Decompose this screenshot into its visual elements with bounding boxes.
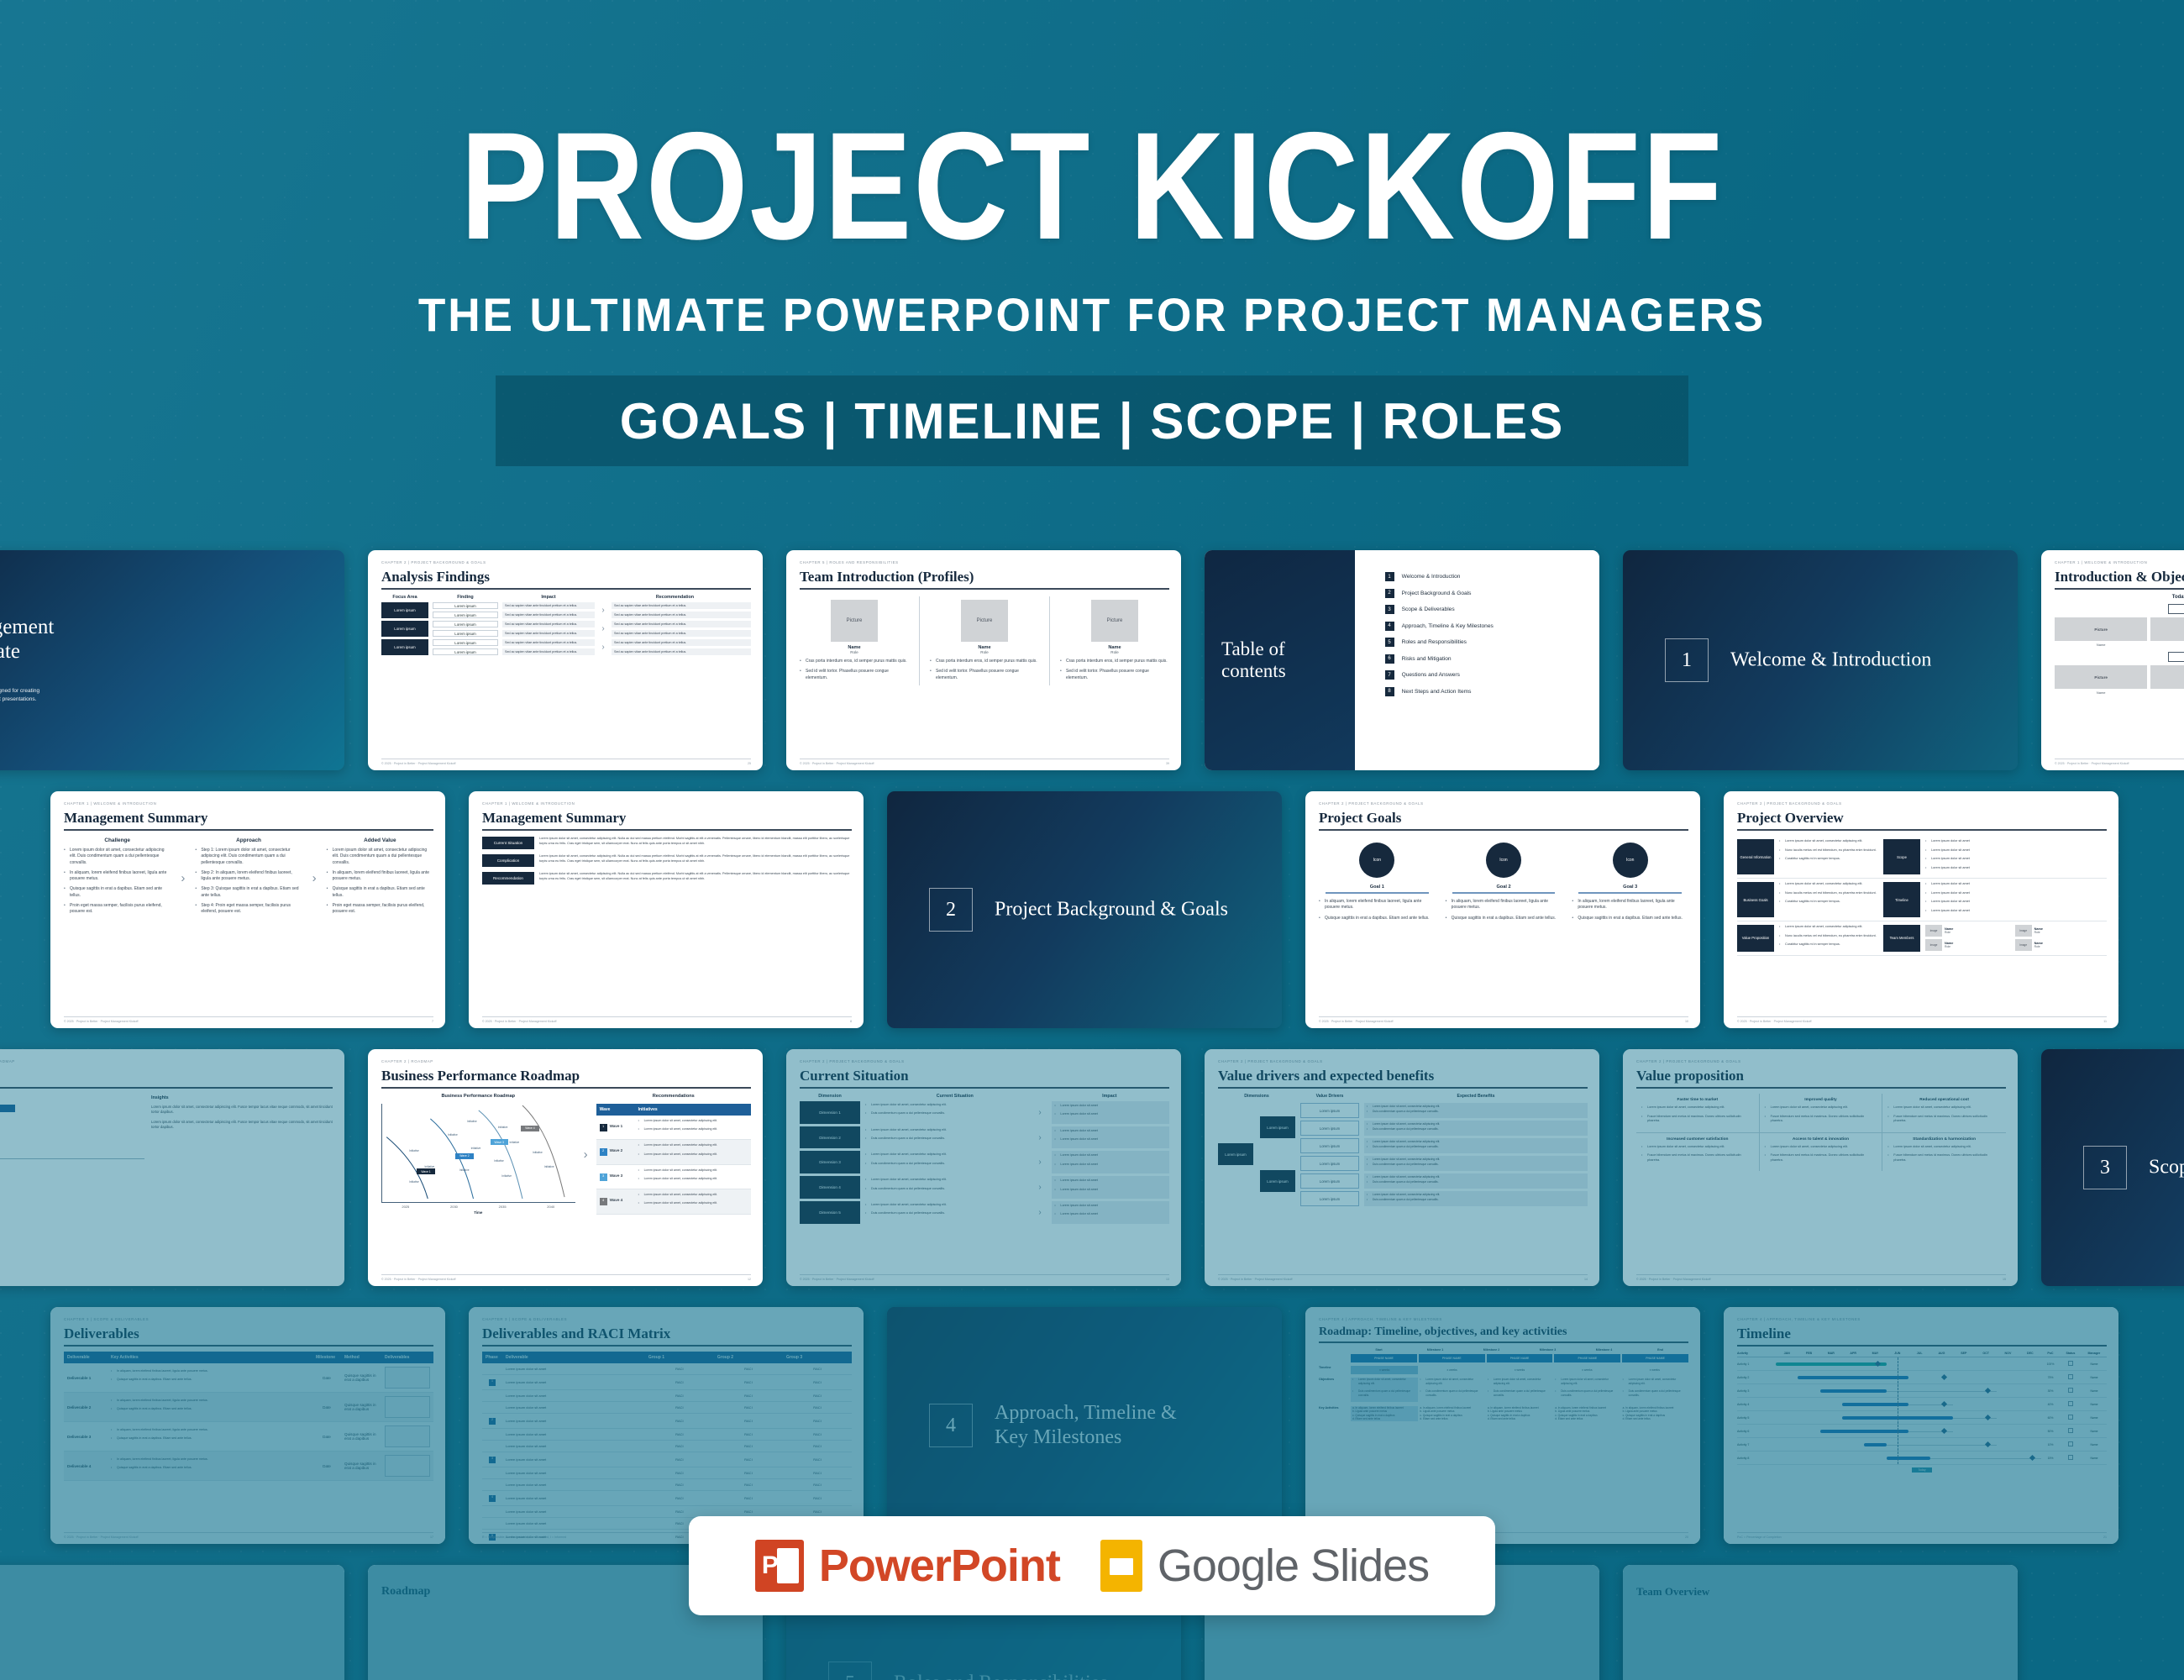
slide-title: Timeline xyxy=(1737,1326,2107,1342)
situation-row: Dimension 2Lorem ipsum dolor sit amet, c… xyxy=(800,1126,1169,1149)
situation-row: Dimension 4Lorem ipsum dolor sit amet, c… xyxy=(800,1176,1169,1199)
member-role: Role xyxy=(1945,931,1953,934)
title-rule xyxy=(64,1345,433,1347)
slide-thumb-project-overview[interactable]: CHAPTER 2 | PROJECT BACKGROUND & GOALS P… xyxy=(1724,791,2118,1028)
gantt-bar xyxy=(1798,1376,1908,1379)
deliverable-name: Deliverable 2 xyxy=(64,1393,108,1422)
value-prop-bullet: Fusce bibendum sed metus id maximus. Don… xyxy=(1765,1153,1877,1163)
overview-row: General InformationLorem ipsum dolor sit… xyxy=(1737,836,2107,879)
goal-bullet: In aliquam, lorem eleifend finibus laore… xyxy=(1572,899,1688,911)
initiative-label: Initiative xyxy=(459,1168,470,1172)
phase-arrow: PHASE NAME xyxy=(1487,1354,1553,1362)
title-rule xyxy=(1319,1341,1688,1343)
summary-row-text: Lorem ipsum dolor sit amet, consectetur … xyxy=(539,837,852,849)
col-header-benefits: Expected Benefits xyxy=(1364,1094,1588,1099)
slide-footer-left: © 2025 · Project in Better · Project Man… xyxy=(64,1536,138,1539)
raci-group-1: RACI xyxy=(645,1414,714,1429)
google-slides-label: Google Slides xyxy=(1158,1540,1429,1592)
slide-thumb-intro-objectives[interactable]: CHAPTER 1 | WELCOME & INTRODUCTION Intro… xyxy=(2041,550,2184,770)
raci-group-2: RACI xyxy=(714,1390,783,1402)
slide-kicker: CHAPTER 2 | PROJECT BACKGROUND & GOALS xyxy=(1218,1059,1588,1063)
impact-bullet: Lorem ipsum dolor sit amet xyxy=(1054,1212,1167,1216)
deliverable-name: Deliverable 4 xyxy=(64,1452,108,1481)
timeline-weeks: x weeks xyxy=(1621,1366,1688,1374)
table-header-cell: Deliverables xyxy=(381,1352,433,1363)
gantt-month: JAN xyxy=(1776,1352,1798,1355)
slide-thumb-management-summary-1[interactable]: CHAPTER 1 | WELCOME & INTRODUCTION Manag… xyxy=(50,791,445,1028)
toc-item[interactable]: 5Roles and Responsibilities xyxy=(1385,638,1599,647)
recommendation-cell: Sed ac sapien vitae ante tincidunt preti… xyxy=(612,630,751,637)
slide-thumb-raci-matrix[interactable]: CHAPTER 3 | SCOPE & DELIVERABLES Deliver… xyxy=(469,1307,864,1544)
slide-page-number: 10 xyxy=(1685,1020,1688,1023)
x-axis-label: Time xyxy=(381,1210,575,1215)
raci-group-1: RACI xyxy=(645,1441,714,1452)
x-tick: 2035 xyxy=(499,1205,507,1209)
slide-thumb-chapter-2[interactable]: 2 Project Background & Goals xyxy=(887,791,1282,1028)
gantt-month: NOV xyxy=(1997,1352,2019,1355)
summary-bullet: Lorem ipsum dolor sit amet, consectetur … xyxy=(327,848,433,866)
chevron-right-icon: › xyxy=(1038,1126,1047,1149)
title-line-2: mplate xyxy=(0,640,333,664)
gantt-bar xyxy=(1820,1430,1908,1433)
slide-kicker: CHAPTER 4 | APPROACH, TIMELINE & KEY MIL… xyxy=(1737,1317,2107,1321)
timeline-weeks: x weeks xyxy=(1418,1366,1485,1374)
finding-box: Lorem ipsum xyxy=(433,648,498,655)
benefit-bullet: Duis condimentum quam a dui pellentesque… xyxy=(1367,1127,1585,1131)
value-prop-bullet: Fusce bibendum sed metus id maximus. Don… xyxy=(1641,1153,1754,1163)
toc-item[interactable]: 6Risks and Mitigation xyxy=(1385,654,1599,664)
slide-thumb-analysis-findings[interactable]: CHAPTER 2 | PROJECT BACKGROUND & GOALS A… xyxy=(368,550,763,770)
table-row: Deliverable 2In aliquam, lorem eleifend … xyxy=(64,1393,433,1422)
milestone-cell: Date xyxy=(312,1452,341,1481)
phase-badge: 1 xyxy=(489,1379,496,1386)
slide-footer-left: © 2025 · Project in Better · Project Man… xyxy=(1319,1020,1393,1023)
timeline-weeks: x weeks xyxy=(1351,1366,1418,1374)
chapter-number: 1 xyxy=(1665,638,1709,682)
raci-deliverable: Lorem ipsum dolor sit amet xyxy=(502,1402,645,1414)
gantt-row: Activity 1100%Name xyxy=(1737,1357,2107,1371)
overview-left-bullet: Curabitur sagittis mi in semper tempus. xyxy=(1779,900,1878,905)
toc-item-label: Roles and Responsibilities xyxy=(1402,639,1467,645)
gantt-status-icon xyxy=(2068,1428,2073,1433)
gantt-milestone-marker xyxy=(1940,1401,1946,1407)
value-prop-cell: Standardization & harmonizationLorem ips… xyxy=(1882,1133,2006,1172)
impact-bullet: Lorem ipsum dolor sit amet xyxy=(1054,1204,1167,1208)
slide-thumb-value-drivers[interactable]: CHAPTER 2 | PROJECT BACKGROUND & GOALS V… xyxy=(1205,1049,1599,1286)
toc-item-number: 2 xyxy=(1385,589,1394,598)
slide-kicker: CHAPTER 2 | PROJECT BACKGROUND & GOALS xyxy=(381,560,751,564)
raci-group-1: RACI xyxy=(645,1375,714,1390)
toc-item[interactable]: 1Welcome & Introduction xyxy=(1385,572,1599,581)
activity-bullet: Quisque sagittis in erat a dapibus. Etia… xyxy=(111,1436,309,1441)
summary-bullet: Step 2: In aliquam, lorem eleifend finib… xyxy=(195,870,302,883)
raci-group-3: RACI xyxy=(783,1375,852,1390)
column-divider xyxy=(1049,596,1050,685)
goal-bullet: In aliquam, lorem eleifend finibus laore… xyxy=(1319,899,1436,911)
situation-bullet: Duis condimentum quam a dui pellentesque… xyxy=(865,1162,1033,1166)
slide-title: Deliverables and RACI Matrix xyxy=(482,1326,852,1342)
gantt-manager: Name xyxy=(2082,1430,2107,1433)
value-driver-boxes: Lorem ipsumLorem ipsumLorem ipsumLorem i… xyxy=(1300,1103,1359,1209)
situation-row: Dimension 5Lorem ipsum dolor sit amet, c… xyxy=(800,1201,1169,1224)
value-driver-box: Lorem ipsum xyxy=(1300,1103,1359,1118)
dimension-box: Dimension 5 xyxy=(800,1201,860,1224)
summary-bullet: Proin eget massa semper, facilisis purus… xyxy=(327,903,433,916)
overview-row: Value PropositionLorem ipsum dolor sit a… xyxy=(1737,921,2107,956)
deliverable-thumbnail xyxy=(385,1425,430,1447)
milestone-marker: Milestone 3 xyxy=(1520,1348,1576,1352)
slide-thumb-table-of-contents[interactable]: Table of contents 1Welcome & Introductio… xyxy=(1205,550,1599,770)
chapter-number: 5 xyxy=(828,1662,872,1680)
gantt-activity-label: Activity 2 xyxy=(1737,1376,1776,1379)
gantt-row: Activity 275%Name xyxy=(1737,1371,2107,1384)
slide-title: Team Overview xyxy=(1636,1585,2006,1599)
profile-role: Role xyxy=(800,650,909,654)
recommendations-table: WaveInitiatives 1Wave 1Lorem ipsum dolor… xyxy=(596,1104,751,1215)
overview-row: Business GoalsLorem ipsum dolor sit amet… xyxy=(1737,879,2107,921)
slide-thumb-bottom-1[interactable] xyxy=(0,1565,344,1680)
benefit-box: Lorem ipsum dolor sit amet, consectetur … xyxy=(1364,1103,1588,1118)
overview-right-label: Timeline xyxy=(1883,882,1920,917)
value-prop-bullet: Lorem ipsum dolor sit amet, consectetur … xyxy=(1641,1105,1754,1110)
objective-bullet: Duis condimentum quam a dui pellentesque… xyxy=(1352,1389,1416,1397)
table-row: Lorem ipsum dolor sit ametRACIRACIRACI xyxy=(482,1390,852,1402)
phase-badge: 4 xyxy=(489,1495,496,1502)
toc-item[interactable]: 7Questions and Answers xyxy=(1385,670,1599,680)
slide-thumb-roadmap-crop[interactable]: CHAPTER 2 | ROADMAP map on Roadmap Insig… xyxy=(0,1049,344,1286)
objective-bullet: Lorem ipsum dolor sit amet, consectetur … xyxy=(1555,1378,1619,1385)
recommendation-cell: Sed ac sapien vitae ante tincidunt preti… xyxy=(612,602,751,609)
slide-footer-left: © 2025 · Project in Better · Project Man… xyxy=(1218,1278,1292,1281)
raci-table: PhaseDeliverableGroup 1Group 2Group 3 Lo… xyxy=(482,1352,852,1544)
gantt-body: Activity 1100%NameActivity 275%NameActiv… xyxy=(1737,1357,2107,1473)
title-rule xyxy=(64,829,433,831)
value-prop-bullet: Fusce bibendum sed metus id maximus. Don… xyxy=(1765,1115,1877,1124)
profile-picture: Picture xyxy=(1091,600,1138,642)
table-row: Lorem ipsum dolor sit ametRACIRACIRACI xyxy=(482,1429,852,1441)
benefit-bullet: Lorem ipsum dolor sit amet, consectetur … xyxy=(1367,1140,1585,1144)
table-row: Lorem ipsum dolor sit ametRACIRACIRACI xyxy=(482,1467,852,1479)
chevron-right-icon: › xyxy=(599,621,607,637)
impact-cell: Sed ac sapien vitae ante tincidunt preti… xyxy=(502,602,595,609)
toc-item-label: Welcome & Introduction xyxy=(1402,574,1461,580)
gantt-status-icon xyxy=(2068,1374,2073,1379)
team-profile-columns: PictureNameRoleCras porta interdum eros,… xyxy=(800,596,1169,685)
milestone-marker: End xyxy=(1632,1348,1688,1352)
gantt-milestone-marker xyxy=(1874,1361,1880,1367)
table-row: 1Wave 1Lorem ipsum dolor sit amet, conse… xyxy=(596,1116,751,1140)
gantt-month: DEC xyxy=(2019,1352,2041,1355)
situation-bullet: Lorem ipsum dolor sit amet, consectetur … xyxy=(865,1203,1033,1207)
overview-left-bullet: Curabitur sagittis mi in semper tempus. xyxy=(1779,857,1878,862)
col-header-dimensions: Dimensions xyxy=(1218,1094,1295,1099)
gantt-activity-label: Activity 1 xyxy=(1737,1362,1776,1366)
slide-footer-left: © 2025 · Project in Better · Project Man… xyxy=(1636,1278,1710,1281)
toc-item[interactable]: 3Scope & Deliverables xyxy=(1385,605,1599,614)
slide-page-number: 8 xyxy=(850,1020,852,1023)
initiative-label: Initiative xyxy=(544,1165,554,1168)
initiative-label: Initiative xyxy=(448,1133,458,1137)
gantt-bar xyxy=(1887,1457,1931,1460)
gantt-manager: Name xyxy=(2082,1457,2107,1460)
slide-thumb-project-goals[interactable]: CHAPTER 2 | PROJECT BACKGROUND & GOALS P… xyxy=(1305,791,1700,1028)
overview-left-bullet: Curabitur sagittis mi in semper tempus. xyxy=(1779,942,1878,948)
row-label-activities: Key Activities xyxy=(1319,1406,1351,1421)
slide-kicker: CHAPTER 2 | PROJECT BACKGROUND & GOALS xyxy=(1636,1059,2006,1063)
profile-bullet: Sed id velit tortor. Phasellus posuere c… xyxy=(1060,669,1169,681)
member-role: Role xyxy=(2034,931,2043,934)
goal-underline xyxy=(1326,892,1429,894)
gantt-status-icon xyxy=(2068,1388,2073,1393)
situation-bullet: Lorem ipsum dolor sit amet, consectetur … xyxy=(865,1103,1033,1107)
gantt-bar xyxy=(1820,1389,1887,1393)
slide-thumb-bottom-team-overview[interactable]: Team Overview xyxy=(1623,1565,2018,1680)
intro-name: Name xyxy=(2150,690,2184,695)
raci-deliverable: Lorem ipsum dolor sit amet xyxy=(502,1518,645,1530)
col-header-situation: Current Situation xyxy=(865,1094,1045,1099)
slide-thumb-business-performance-roadmap[interactable]: CHAPTER 2 | ROADMAP Business Performance… xyxy=(368,1049,763,1286)
summary-row: ComplicationLorem ipsum dolor sit amet, … xyxy=(482,854,852,867)
slide-thumb-deliverables[interactable]: CHAPTER 3 | SCOPE & DELIVERABLES Deliver… xyxy=(50,1307,445,1544)
slide-thumb-chapter-3[interactable]: 3 Scope & Deliverables xyxy=(2041,1049,2184,1286)
slide-thumb-chapter-4[interactable]: 4 Approach, Timeline & Key Milestones xyxy=(887,1307,1282,1544)
slide-page-number: 25 xyxy=(748,762,751,765)
raci-deliverable: Lorem ipsum dolor sit amet xyxy=(502,1441,645,1452)
slide-thumb-roadmap-timeline[interactable]: CHAPTER 4 | APPROACH, TIMELINE & KEY MIL… xyxy=(1305,1307,1700,1544)
situation-bullet: Duis condimentum quam a dui pellentesque… xyxy=(865,1211,1033,1215)
slide-thumb-chapter-1[interactable]: 1 Welcome & Introduction xyxy=(1623,550,2018,770)
chapter-title: Project Background & Goals xyxy=(995,899,1228,921)
slide-page-number: 17 xyxy=(430,1536,433,1539)
gantt-col-status: Status xyxy=(2060,1352,2082,1355)
slide-kicker: CHAPTER 2 | PROJECT BACKGROUND & GOALS xyxy=(1319,801,1688,806)
finding-box: Lorem ipsum xyxy=(433,621,498,627)
deliverable-thumbnail xyxy=(385,1367,430,1389)
slide-kicker: CHAPTER 2 | PROJECT BACKGROUND & GOALS xyxy=(800,1059,1169,1063)
value-driver-box: Lorem ipsum xyxy=(1300,1156,1359,1171)
situation-bullet: Lorem ipsum dolor sit amet, consectetur … xyxy=(865,1178,1033,1182)
toc-item[interactable]: 8Next Steps and Action Items xyxy=(1385,687,1599,696)
impact-bullet: Lorem ipsum dolor sit amet xyxy=(1054,1112,1167,1116)
toc-item-label: Risks and Mitigation xyxy=(1402,656,1452,662)
summary-column-header: Challenge xyxy=(64,837,171,843)
method-cell: Quisque sagittis in erat a dapibus xyxy=(341,1452,381,1481)
slide-thumb-team-profiles[interactable]: CHAPTER 5 | ROLES AND RESPONSIBILITIES T… xyxy=(786,550,1181,770)
slide-title: Introduction & Objectives xyxy=(2055,569,2184,585)
table-row: 4Wave 4Lorem ipsum dolor sit amet, conse… xyxy=(596,1189,751,1214)
activity-bullet: In aliquam, lorem eleifend finibus laore… xyxy=(111,1457,309,1462)
raci-group-2: RACI xyxy=(714,1414,783,1429)
dimension-box: Dimension 1 xyxy=(800,1101,860,1124)
phase-badge: 3 xyxy=(489,1457,496,1463)
powerpoint-label: PowerPoint xyxy=(819,1540,1060,1592)
goal-label: Goal 2 xyxy=(1446,885,1562,890)
gantt-month: FEB xyxy=(1798,1352,1819,1355)
slide-page-number: 14 xyxy=(1584,1278,1588,1281)
intro-picture-grid-2: PictureNamePictureNamePictureName xyxy=(2055,665,2184,695)
value-prop-title: Improved quality xyxy=(1765,1098,1877,1102)
title-desc-1: t template designed for creating xyxy=(0,687,333,696)
goal-column: IconGoal 3In aliquam, lorem eleifend fin… xyxy=(1572,843,1688,926)
slide-page-number: 7 xyxy=(432,1020,433,1023)
horizon-tag: HORIZON 1 xyxy=(0,1105,15,1112)
summary-row-label: Current Situation xyxy=(482,837,534,849)
milestone-cell: Date xyxy=(312,1393,341,1422)
focus-area-box: Lorem ipsum xyxy=(381,639,428,655)
value-prop-grid: Faster time to marketLorem ipsum dolor s… xyxy=(1636,1094,2006,1171)
raci-deliverable: Lorem ipsum dolor sit amet xyxy=(502,1467,645,1479)
summary-bullet: Quisque sagittis in erat a dapibus. Etia… xyxy=(327,886,433,899)
powerpoint-badge: P PowerPoint xyxy=(755,1540,1060,1592)
hero-section: PROJECT KICKOFF THE ULTIMATE POWERPOINT … xyxy=(0,0,2184,538)
summary-row: RecommendationLorem ipsum dolor sit amet… xyxy=(482,872,852,885)
raci-group-2: RACI xyxy=(714,1375,783,1390)
slide-thumb-title[interactable]: x anagement mplate t template designed f… xyxy=(0,550,344,770)
gantt-activity-label: Activity 4 xyxy=(1737,1403,1776,1406)
situation-bullet: Lorem ipsum dolor sit amet, consectetur … xyxy=(865,1128,1033,1132)
gantt-activity-label: Activity 3 xyxy=(1737,1389,1776,1393)
value-prop-bullet: Fusce bibendum sed metus id maximus. Don… xyxy=(1887,1115,2001,1124)
chapter-title: Approach, Timeline & Key Milestones xyxy=(995,1401,1177,1450)
raci-group-3: RACI xyxy=(783,1441,852,1452)
activity-item: d. Etiam sed ante tellus xyxy=(1555,1417,1619,1420)
initiative-label: Initiative xyxy=(501,1174,512,1178)
situation-bullet: Duis condimentum quam a dui pellentesque… xyxy=(865,1111,1033,1116)
member-role: Role xyxy=(1945,945,1953,948)
gantt-month: JUL xyxy=(1908,1352,1930,1355)
table-row: 3Wave 3Lorem ipsum dolor sit amet, conse… xyxy=(596,1164,751,1189)
slide-title: Team Introduction (Profiles) xyxy=(800,569,1169,585)
value-prop-title: Standardization & harmonization xyxy=(1887,1137,2001,1142)
profile-picture: Picture xyxy=(961,600,1008,642)
expected-benefit-boxes: Lorem ipsum dolor sit amet, consectetur … xyxy=(1364,1103,1588,1209)
title-rule xyxy=(381,1087,751,1089)
gantt-col-manager: Manager xyxy=(2082,1352,2107,1355)
intro-name: Name xyxy=(2055,643,2147,647)
benefit-box: Lorem ipsum dolor sit amet, consectetur … xyxy=(1364,1138,1588,1153)
chapter-number: 4 xyxy=(929,1404,973,1447)
col-header-recommendation: Recommendation xyxy=(599,595,751,600)
slide-thumbnail-grid: x anagement mplate t template designed f… xyxy=(0,550,2184,1680)
initiative-label: Initiative xyxy=(498,1126,508,1129)
raci-group-2: RACI xyxy=(714,1363,783,1375)
toc-item-number: 3 xyxy=(1385,605,1394,614)
overview-right-bullet: Lorem ipsum dolor sit amet xyxy=(1925,848,2107,853)
value-prop-cell: Reduced operational costLorem ipsum dolo… xyxy=(1882,1094,2006,1133)
slide-row-2: CHAPTER 1 | WELCOME & INTRODUCTION Manag… xyxy=(50,791,2184,1028)
col-header-impact: Impact xyxy=(1050,1094,1169,1099)
x-tick: 2030 xyxy=(450,1205,458,1209)
recommendation-cell: Sed ac sapien vitae ante tincidunt preti… xyxy=(612,612,751,618)
wave-tag: Wave 1 xyxy=(417,1168,434,1174)
activity-item: d. Etiam sed ante tellus xyxy=(1623,1417,1687,1420)
gantt-row: Activity 440%Name xyxy=(1737,1398,2107,1411)
gantt-milestone-marker xyxy=(1985,1441,1991,1447)
toc-item-label: Next Steps and Action Items xyxy=(1402,689,1472,695)
benefit-box: Lorem ipsum dolor sit amet, consectetur … xyxy=(1364,1173,1588,1189)
activity-bullet: Quisque sagittis in erat a dapibus. Etia… xyxy=(111,1466,309,1470)
initiative-label: Initiative xyxy=(425,1165,435,1168)
member-role: Role xyxy=(2034,945,2043,948)
col-header-drivers: Value Drivers xyxy=(1300,1094,1359,1099)
summary-column-header: Approach xyxy=(195,837,302,843)
raci-group-2: RACI xyxy=(714,1452,783,1467)
gantt-row: Activity 710%Name xyxy=(1737,1438,2107,1452)
table-row: Lorem ipsum dolor sit ametRACIRACIRACI xyxy=(482,1441,852,1452)
focus-area-box: Lorem ipsum xyxy=(381,621,428,637)
recommendations-title: Recommendations xyxy=(596,1094,751,1099)
slide-kicker: CHAPTER 1 | WELCOME & INTRODUCTION xyxy=(482,801,852,806)
summary-bullet: Quisque sagittis in erat a dapibus. Etia… xyxy=(64,886,171,899)
slide-footer-left: © 2025 · Project in Better · Project Man… xyxy=(482,1020,556,1023)
slide-kicker: CHAPTER 3 | SCOPE & DELIVERABLES xyxy=(64,1317,433,1321)
impact-cell: Sed ac sapien vitae ante tincidunt preti… xyxy=(502,630,595,637)
page-title: PROJECT KICKOFF xyxy=(153,109,2031,262)
raci-group-3: RACI xyxy=(783,1452,852,1467)
wave-index: 1 xyxy=(600,1124,607,1131)
overview-right-bullet: Lorem ipsum dolor sit amet xyxy=(1925,900,2107,905)
milestone-marker: Start xyxy=(1351,1348,1407,1352)
raci-group-2: RACI xyxy=(714,1402,783,1414)
toc-item[interactable]: 2Project Background & Goals xyxy=(1385,589,1599,598)
raci-group-3: RACI xyxy=(783,1429,852,1441)
impact-bullet: Lorem ipsum dolor sit amet xyxy=(1054,1188,1167,1192)
gantt-month: SEP xyxy=(1953,1352,1975,1355)
gantt-status-icon xyxy=(2068,1401,2073,1406)
value-driver-box: Lorem ipsum xyxy=(1300,1191,1359,1206)
impact-bullet: Lorem ipsum dolor sit amet xyxy=(1054,1137,1167,1142)
raci-deliverable: Lorem ipsum dolor sit amet xyxy=(502,1479,645,1491)
impact-cell: Sed ac sapien vitae ante tincidunt preti… xyxy=(502,621,595,627)
chevron-right-icon: › xyxy=(1038,1151,1047,1173)
slide-page-number: 12 xyxy=(748,1278,751,1281)
title-rule xyxy=(1737,1345,2107,1347)
slide-thumb-current-situation[interactable]: CHAPTER 2 | PROJECT BACKGROUND & GOALS C… xyxy=(786,1049,1181,1286)
x-axis-ticks: 2025203020352040 xyxy=(381,1205,575,1209)
column-divider xyxy=(919,596,920,685)
slide-title: Analysis Findings xyxy=(381,569,751,585)
x-tick: 2040 xyxy=(547,1205,554,1209)
slide-thumb-value-proposition[interactable]: CHAPTER 2 | PROJECT BACKGROUND & GOALS V… xyxy=(1623,1049,2018,1286)
wave-index: 2 xyxy=(600,1148,607,1156)
toc-item-label: Scope & Deliverables xyxy=(1402,606,1455,612)
profile-bullet: Cras porta interdum eros, id semper puru… xyxy=(930,659,1039,664)
finding-box: Lorem ipsum xyxy=(433,602,498,609)
benefit-bullet: Lorem ipsum dolor sit amet, consectetur … xyxy=(1367,1122,1585,1126)
table-header-cell: Key Activities xyxy=(108,1352,312,1363)
gantt-row: Activity 560%Name xyxy=(1737,1411,2107,1425)
phase-arrow: PHASE NAME xyxy=(1351,1354,1417,1362)
table-row: 2Wave 2Lorem ipsum dolor sit amet, conse… xyxy=(596,1140,751,1164)
gantt-header-row: ActivityJANFEBMARAPRMAYJUNJULAUGSEPOCTNO… xyxy=(1737,1352,2107,1357)
table-header-cell: Group 2 xyxy=(714,1352,783,1363)
initiative-label: Initiative xyxy=(409,1180,419,1184)
value-prop-title: Access to talent & innovation xyxy=(1765,1137,1877,1142)
impact-cell: Sed ac sapien vitae ante tincidunt preti… xyxy=(502,639,595,646)
raci-group-1: RACI xyxy=(645,1479,714,1491)
slide-row-1: x anagement mplate t template designed f… xyxy=(0,550,2184,770)
title-rule xyxy=(2055,588,2184,590)
raci-deliverable: Lorem ipsum dolor sit amet xyxy=(502,1506,645,1518)
slide-thumb-timeline-gantt[interactable]: CHAPTER 4 | APPROACH, TIMELINE & KEY MIL… xyxy=(1724,1307,2118,1544)
toc-item[interactable]: 4Approach, Timeline & Key Milestones xyxy=(1385,622,1599,631)
slide-kicker: CHAPTER 1 | WELCOME & INTRODUCTION xyxy=(2055,560,2184,564)
raci-group-1: RACI xyxy=(645,1491,714,1506)
gantt-status-icon xyxy=(2068,1361,2073,1366)
slide-thumb-management-summary-2[interactable]: CHAPTER 1 | WELCOME & INTRODUCTION Manag… xyxy=(469,791,864,1028)
gantt-activity-label: Activity 7 xyxy=(1737,1443,1776,1446)
x-tick: 2025 xyxy=(402,1205,409,1209)
